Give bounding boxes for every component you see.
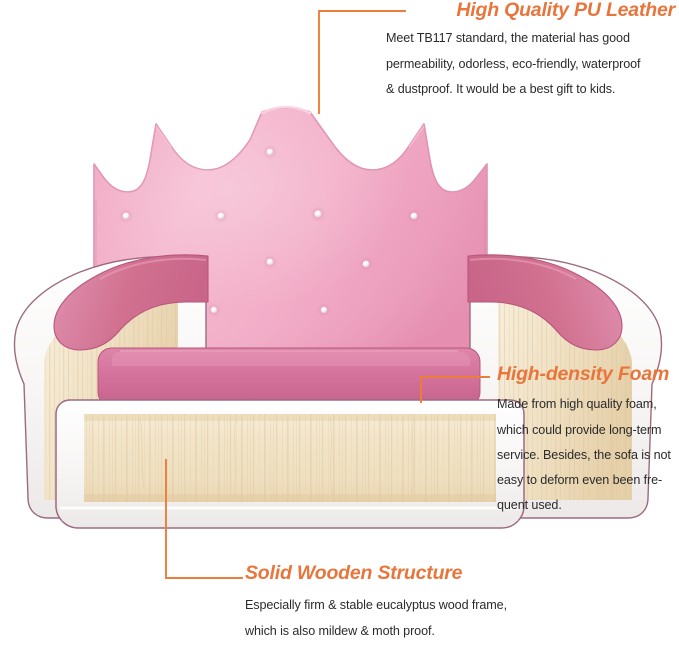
callout-text-line: Especially firm & stable eucalyptus wood… — [245, 593, 679, 618]
callout-text-line: which could provide long-term — [497, 418, 679, 443]
callout-text-line: easy to deform even been fre- — [497, 468, 679, 493]
callout-text-line: quent used. — [497, 493, 679, 518]
callout-text-line: service. Besides, the sofa is not — [497, 443, 679, 468]
callout-body-high-density-foam: Made from high quality foam, which could… — [497, 392, 679, 518]
callout-title-pu-leather: High Quality PU Leather — [386, 0, 679, 21]
callout-text-line: permeability, odorless, eco-friendly, wa… — [386, 52, 679, 77]
base-frame — [56, 400, 524, 528]
callout-text-line: & dustproof. It would be a best gift to … — [386, 77, 679, 102]
callout-pu-leather: High Quality PU Leather Meet TB117 stand… — [386, 0, 679, 102]
callout-text-line: which is also mildew & moth proof. — [245, 619, 679, 644]
callout-title-solid-wooden-structure: Solid Wooden Structure — [245, 563, 679, 584]
callout-body-solid-wooden-structure: Especially firm & stable eucalyptus wood… — [245, 593, 679, 643]
wood-panel — [84, 414, 496, 502]
product-infographic: High Quality PU Leather Meet TB117 stand… — [0, 0, 679, 646]
callout-solid-wooden-structure: Solid Wooden Structure Especially firm &… — [245, 563, 679, 644]
callout-high-density-foam: High-density Foam Made from high quality… — [497, 364, 679, 518]
callout-text-line: Meet TB117 standard, the material has go… — [386, 26, 679, 51]
callout-title-high-density-foam: High-density Foam — [497, 364, 679, 385]
callout-text-line: Made from high quality foam, — [497, 392, 679, 417]
callout-body-pu-leather: Meet TB117 standard, the material has go… — [386, 26, 679, 102]
